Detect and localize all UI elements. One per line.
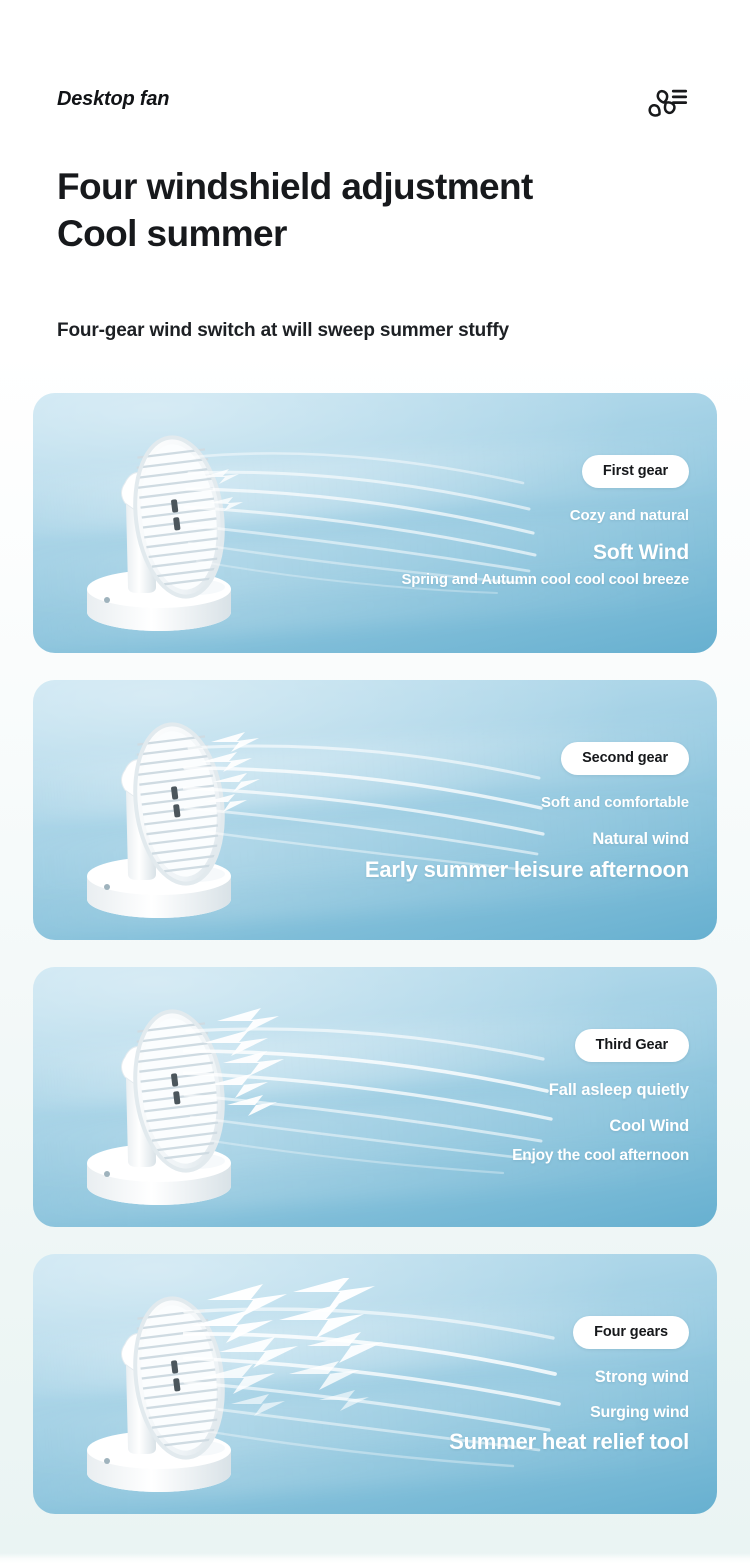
gear-wind-name: Surging wind	[590, 1404, 689, 1422]
brand-label: Desktop fan	[57, 88, 710, 111]
gear-wind-name: Natural wind	[592, 830, 689, 849]
gear-description: Spring and Autumn cool cool cool breeze	[402, 571, 690, 588]
gear-badge[interactable]: Four gears	[573, 1316, 689, 1349]
fan-illustration	[77, 1268, 242, 1496]
page-header: Desktop fan	[57, 88, 710, 134]
gear-badge[interactable]: Second gear	[561, 742, 689, 775]
gear-wind-name: Cool Wind	[609, 1117, 689, 1136]
gear-copy-block: Third Gear Fall asleep quietly Cool Wind…	[219, 967, 689, 1227]
fan-blades-icon	[642, 82, 692, 130]
gear-tagline: Strong wind	[595, 1368, 689, 1387]
gear-badge[interactable]: Third Gear	[575, 1029, 689, 1062]
gear-card[interactable]: Third Gear Fall asleep quietly Cool Wind…	[33, 967, 717, 1227]
gear-copy-block: First gear Cozy and natural Soft Wind Sp…	[219, 393, 689, 653]
gear-wind-name: Soft Wind	[593, 541, 689, 565]
gear-card[interactable]: Four gears Strong wind Surging wind Summ…	[33, 1254, 717, 1514]
gear-description: Summer heat relief tool	[449, 1429, 689, 1455]
gear-card[interactable]: Second gear Soft and comfortable Natural…	[33, 680, 717, 940]
gear-description: Early summer leisure afternoon	[365, 857, 689, 883]
gear-tagline: Cozy and natural	[570, 507, 689, 524]
product-feature-page: Desktop fan Four windshield adjustment C…	[0, 0, 750, 1563]
fan-illustration	[77, 694, 242, 922]
gear-copy-block: Second gear Soft and comfortable Natural…	[219, 680, 689, 940]
page-subtitle: Four-gear wind switch at will sweep summ…	[57, 320, 697, 342]
page-title-line-1: Four windshield adjustment	[57, 166, 533, 207]
gear-card-list: First gear Cozy and natural Soft Wind Sp…	[33, 393, 717, 1514]
gear-badge[interactable]: First gear	[582, 455, 689, 488]
gear-card[interactable]: First gear Cozy and natural Soft Wind Sp…	[33, 393, 717, 653]
fan-illustration	[77, 981, 242, 1209]
page-title: Four windshield adjustment Cool summer	[57, 163, 697, 258]
page-bottom-edge	[0, 1553, 750, 1563]
gear-tagline: Soft and comfortable	[541, 794, 689, 811]
gear-copy-block: Four gears Strong wind Surging wind Summ…	[219, 1254, 689, 1514]
fan-illustration	[77, 407, 242, 635]
page-title-line-2: Cool summer	[57, 210, 697, 257]
gear-description: Enjoy the cool afternoon	[512, 1147, 689, 1165]
gear-tagline: Fall asleep quietly	[549, 1081, 689, 1100]
